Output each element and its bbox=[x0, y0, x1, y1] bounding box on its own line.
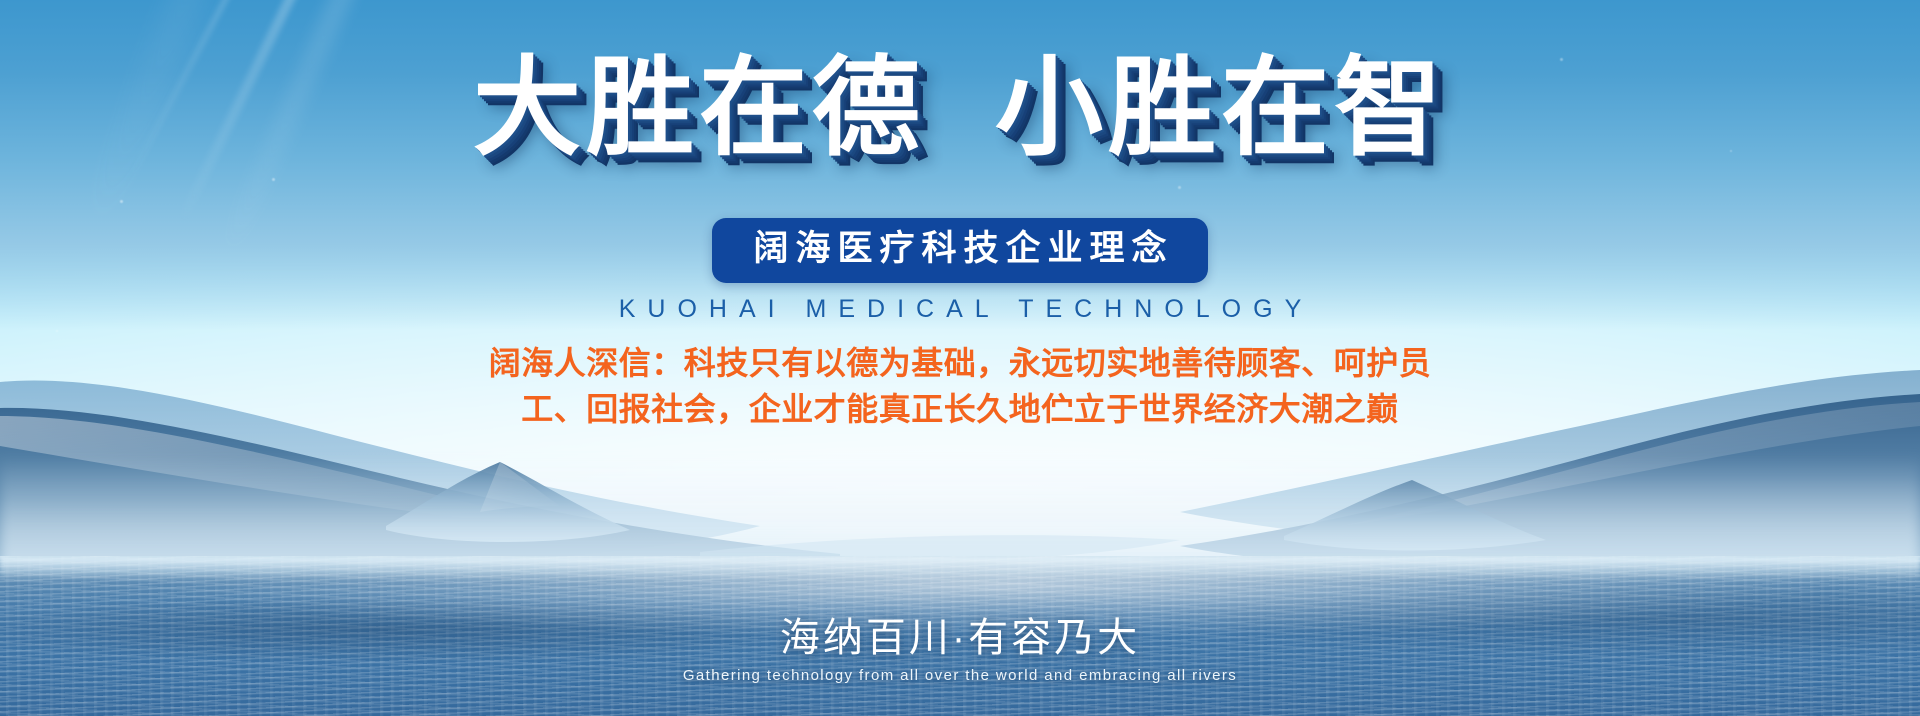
concept-badge-container: 阔海医疗科技企业理念 bbox=[0, 218, 1920, 283]
main-headline: 大胜在德 小胜在智 bbox=[0, 48, 1920, 169]
concept-badge: 阔海医疗科技企业理念 bbox=[712, 218, 1207, 283]
banner-content: 大胜在德 小胜在智 阔海医疗科技企业理念 KUOHAI MEDICAL TECH… bbox=[0, 0, 1920, 716]
statement-line: 阔海人深信：科技只有以德为基础，永远切实地善待顾客、呵护员 bbox=[450, 340, 1470, 386]
motto-english: Gathering technology from all over the w… bbox=[0, 667, 1920, 684]
statement-line: 工、回报社会，企业才能真正长久地伫立于世界经济大潮之巅 bbox=[450, 386, 1470, 432]
motto-chinese: 海纳百川·有容乃大 bbox=[0, 613, 1920, 663]
promotional-banner: 大胜在德 小胜在智 阔海医疗科技企业理念 KUOHAI MEDICAL TECH… bbox=[0, 0, 1920, 716]
bottom-motto: 海纳百川·有容乃大 Gathering technology from all … bbox=[0, 613, 1920, 684]
philosophy-statement: 阔海人深信：科技只有以德为基础，永远切实地善待顾客、呵护员 工、回报社会，企业才… bbox=[450, 340, 1470, 433]
english-subtitle: KUOHAI MEDICAL TECHNOLOGY bbox=[0, 295, 1920, 324]
